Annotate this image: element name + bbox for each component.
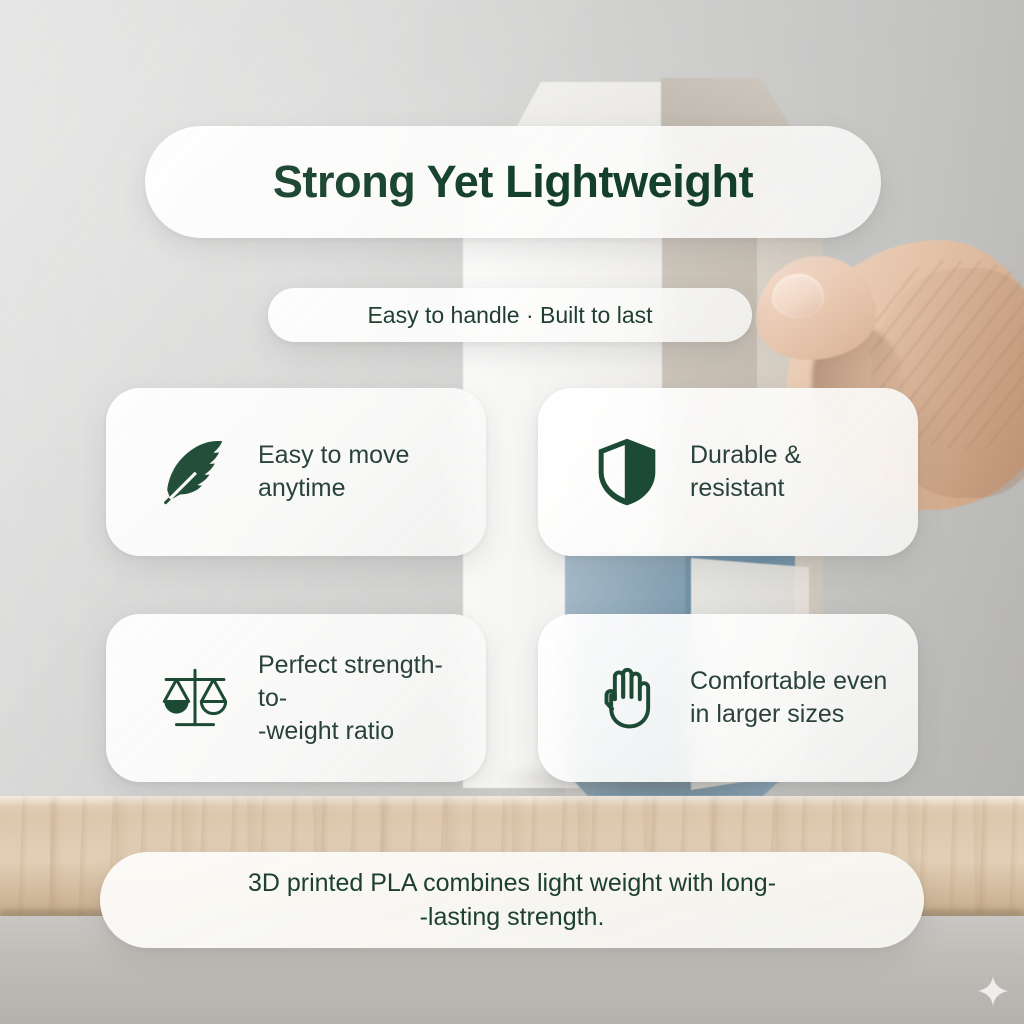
subtitle-pill: Easy to handle · Built to last — [268, 288, 752, 342]
feather-icon — [158, 435, 232, 509]
feature-card-easy-to-move[interactable]: Easy to move anytime — [106, 388, 486, 556]
footer-banner: 3D printed PLA combines light weight wit… — [100, 852, 924, 948]
feature-label: Durable & resistant — [690, 439, 801, 505]
feature-label: Comfortable even in larger sizes — [690, 665, 887, 731]
feature-card-comfortable[interactable]: Comfortable even in larger sizes — [538, 614, 918, 782]
sparkle-icon — [978, 976, 1008, 1006]
promo-graphic: Strong Yet Lightweight Easy to handle · … — [0, 0, 1024, 1024]
feature-label: Perfect strength-to- -weight ratio — [258, 649, 464, 748]
feature-card-durable[interactable]: Durable & resistant — [538, 388, 918, 556]
open-hand-icon — [590, 661, 664, 735]
feature-label: Easy to move anytime — [258, 439, 409, 505]
footer-text: 3D printed PLA combines light weight wit… — [208, 866, 816, 934]
thumb-nail — [772, 274, 824, 318]
shield-icon — [590, 435, 664, 509]
page-title: Strong Yet Lightweight — [273, 156, 753, 208]
feature-card-strength-to-weight[interactable]: Perfect strength-to- -weight ratio — [106, 614, 486, 782]
balance-scale-icon — [158, 661, 232, 735]
shelf-top-highlight — [0, 796, 1024, 806]
title-pill: Strong Yet Lightweight — [145, 126, 881, 238]
page-subtitle: Easy to handle · Built to last — [367, 302, 652, 329]
